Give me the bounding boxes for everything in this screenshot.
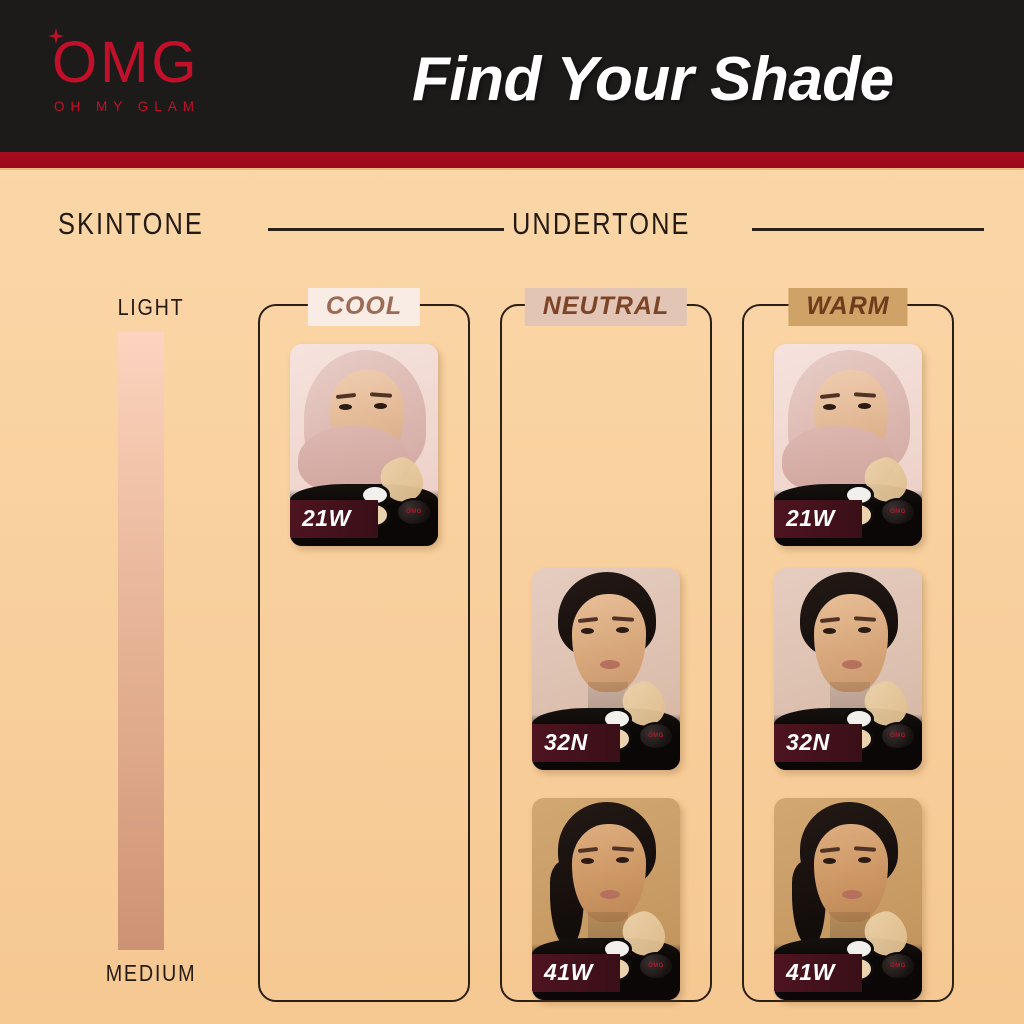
header-bar: OMG OH MY GLAM Find Your Shade [0, 0, 1024, 152]
eye-left [823, 628, 836, 634]
model-face [814, 824, 888, 922]
logo-tagline: OH MY GLAM [46, 99, 246, 114]
eye-right [858, 857, 871, 863]
lips [600, 890, 620, 899]
model-face [572, 594, 646, 692]
eye-right [858, 627, 871, 633]
compact-closed-icon: OMG [638, 952, 674, 980]
compact-closed-icon: OMG [638, 722, 674, 750]
undertone-badge-warm: WARM [788, 288, 907, 326]
compact-closed-icon: OMG [880, 952, 916, 980]
shade-label: 21W [774, 500, 862, 538]
shade-label: 41W [774, 954, 862, 992]
shade-card-neutral-41w[interactable]: OMG 41W [532, 798, 680, 1000]
logo-text: OMG [52, 30, 200, 95]
shade-card-neutral-32n[interactable]: OMG 32N [532, 568, 680, 770]
compact-logo-text: OMG [890, 963, 906, 969]
compact-logo-text: OMG [648, 733, 664, 739]
compact-closed-icon: OMG [880, 722, 916, 750]
undertone-columns: COOL [0, 290, 1024, 1002]
shade-label: 41W [532, 954, 620, 992]
divider-right [752, 228, 984, 231]
page-title: Find Your Shade [412, 44, 894, 115]
shade-card-warm-41w[interactable]: OMG 41W [774, 798, 922, 1000]
lips [600, 660, 620, 669]
eye-right [858, 403, 871, 409]
skintone-heading: SKINTONE [58, 206, 204, 242]
lips [842, 660, 862, 669]
shade-card-warm-21w[interactable]: OMG 21W [774, 344, 922, 546]
eye-left [581, 858, 594, 864]
eye-left [581, 628, 594, 634]
shade-finder-infographic: OMG OH MY GLAM Find Your Shade SKINTONE … [0, 0, 1024, 1024]
compact-closed-icon: OMG [396, 498, 432, 526]
shade-card-cool-21w[interactable]: OMG 21W [290, 344, 438, 546]
brand-logo: OMG OH MY GLAM [46, 34, 246, 134]
shade-label: 32N [774, 724, 862, 762]
undertone-badge-neutral: NEUTRAL [525, 288, 687, 326]
eye-left [823, 858, 836, 864]
eye-left [823, 404, 836, 410]
eye-right [374, 403, 387, 409]
undertone-heading: UNDERTONE [512, 206, 691, 242]
compact-logo-text: OMG [890, 509, 906, 515]
shade-card-warm-32n[interactable]: OMG 32N [774, 568, 922, 770]
shade-label: 32N [532, 724, 620, 762]
eye-right [616, 627, 629, 633]
eye-right [616, 857, 629, 863]
undertone-column-cool[interactable]: COOL [258, 304, 470, 1002]
compact-logo-text: OMG [406, 509, 422, 515]
logo-wordmark: OMG [46, 34, 246, 92]
lips [842, 890, 862, 899]
shade-label: 21W [290, 500, 378, 538]
section-label-row: SKINTONE UNDERTONE [0, 206, 1024, 252]
compact-logo-text: OMG [648, 963, 664, 969]
undertone-column-neutral[interactable]: NEUTRAL [500, 304, 712, 1002]
undertone-badge-cool: COOL [308, 288, 420, 326]
divider-left [268, 228, 504, 231]
undertone-column-warm[interactable]: WARM [742, 304, 954, 1002]
sparkle-icon [48, 28, 64, 44]
compact-logo-text: OMG [890, 733, 906, 739]
header-accent-stripe [0, 152, 1024, 170]
eye-left [339, 404, 352, 410]
model-face [572, 824, 646, 922]
model-face [814, 594, 888, 692]
compact-closed-icon: OMG [880, 498, 916, 526]
